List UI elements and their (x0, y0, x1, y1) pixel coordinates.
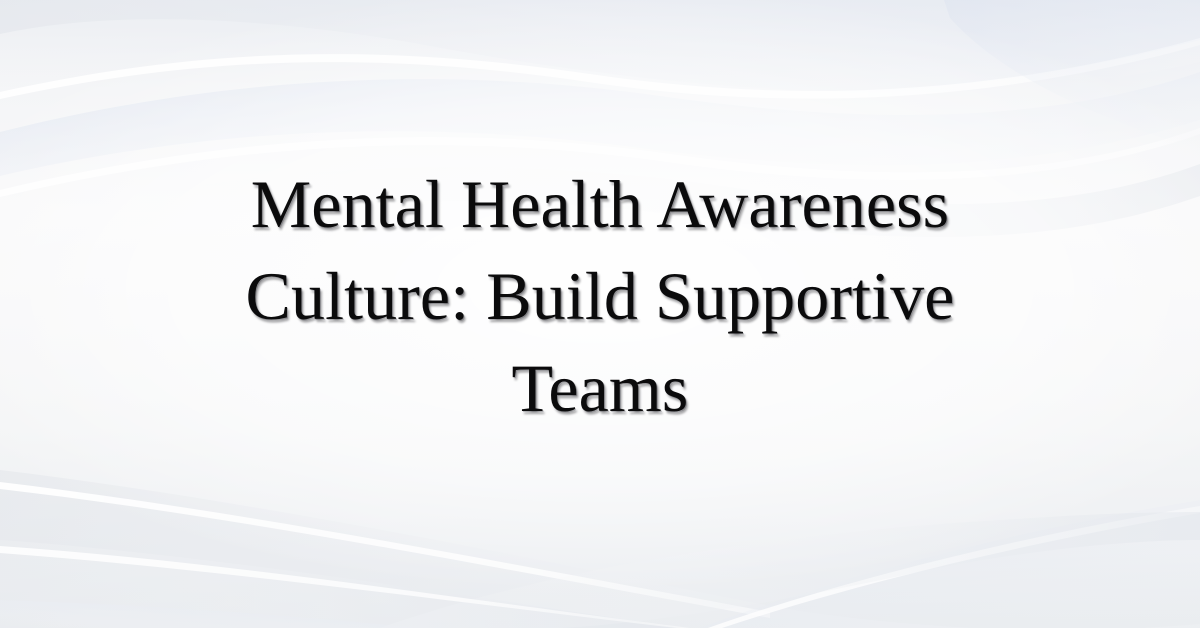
page-title: Mental Health Awareness Culture: Build S… (180, 158, 1020, 434)
title-content-area: Mental Health Awareness Culture: Build S… (0, 0, 1200, 628)
title-slide: Mental Health Awareness Culture: Build S… (0, 0, 1200, 628)
